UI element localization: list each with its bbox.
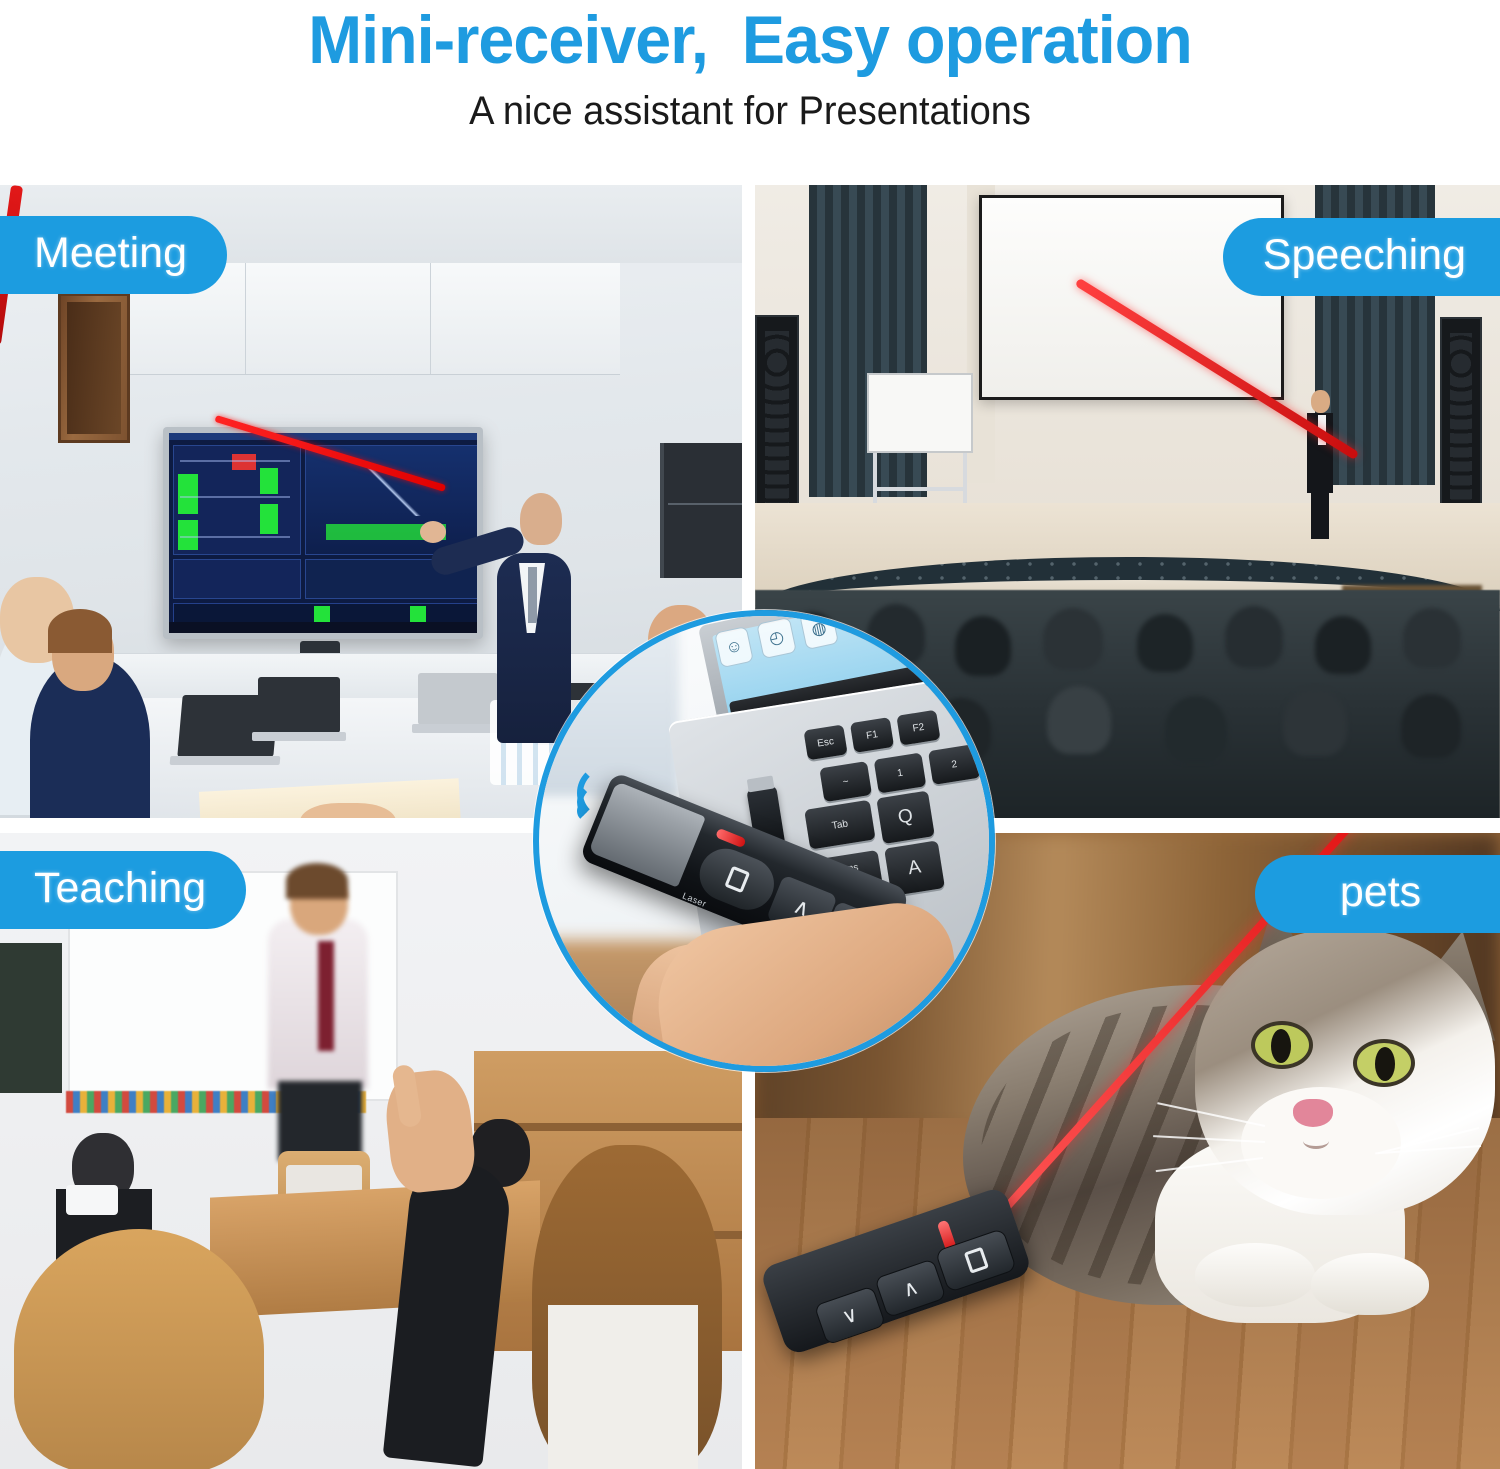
speaker-head [1311, 390, 1330, 413]
screen-quote-table [173, 445, 301, 555]
key-q[interactable]: Q [876, 791, 935, 845]
whiteboard [867, 373, 973, 453]
laptop [258, 677, 340, 733]
audience-head [1225, 606, 1283, 668]
screen-green-cell [260, 504, 278, 534]
teacher-trousers [278, 1081, 362, 1161]
cat-mouth [1303, 1133, 1329, 1149]
student-collar [66, 1185, 118, 1215]
led-indicator [715, 828, 747, 849]
tower-speaker [755, 315, 799, 523]
cat-paw [1195, 1243, 1315, 1307]
screen-watchlist [173, 603, 477, 623]
screen-green-cell [314, 606, 330, 622]
safari-icon: ◍ [799, 610, 839, 650]
attendee-hair [48, 609, 112, 653]
audience-head [1403, 608, 1461, 668]
key-esc[interactable]: Esc [803, 724, 847, 760]
teacher-tie [318, 941, 334, 1051]
screen-taskbar [169, 622, 477, 633]
screen-order-panel [173, 559, 301, 599]
key-f1[interactable]: F1 [850, 717, 894, 753]
audience-head [1165, 696, 1227, 762]
hand-fingers [648, 896, 969, 1072]
chalkboard [0, 943, 62, 1093]
audience-head [1043, 608, 1103, 670]
panel-label-pets: pets [1255, 855, 1500, 933]
blank-screen-icon [963, 1247, 988, 1274]
launchpad-icon: ◴ [757, 617, 797, 659]
screen-green-cell [178, 474, 198, 514]
audience-head [1283, 688, 1347, 756]
audience-head [1047, 686, 1111, 754]
screen-titlebar [169, 433, 477, 440]
side-monitor [660, 443, 742, 578]
finder-icon: ☺ [714, 626, 754, 668]
audience-head [1137, 614, 1193, 672]
panel-label-teaching: Teaching [0, 851, 246, 929]
screen-row [180, 496, 290, 498]
header: Mini-receiver, Easy operation A nice ass… [0, 0, 1500, 170]
cat-pupil [1271, 1029, 1291, 1063]
laptop [418, 673, 498, 725]
product-infographic: Mini-receiver, Easy operation A nice ass… [0, 0, 1500, 1469]
product-detail-callout: ☺ ◴ ◍ Esc F1 F2 ~ 1 2 Tab Q CapsLock A ⇧… [533, 610, 995, 1072]
speaker-legs [1311, 477, 1329, 539]
screen-green-cell [410, 606, 426, 622]
presenter-hand [420, 521, 446, 543]
student-body [548, 1305, 698, 1469]
tower-speaker [1440, 317, 1482, 519]
screen-row [180, 536, 290, 538]
audience-head [1315, 616, 1371, 674]
cat-paw [1311, 1253, 1429, 1315]
screen-green-cell [260, 468, 278, 494]
page-title: Mini-receiver, Easy operation [38, 2, 1463, 78]
screen-red-cell [232, 454, 256, 470]
presenter-head [520, 493, 562, 545]
screen-chart-panel [305, 445, 477, 555]
student-hair [14, 1229, 264, 1469]
page-subtitle: A nice assistant for Presentations [38, 88, 1463, 134]
panel-label-speeching: Speeching [1223, 218, 1500, 296]
panel-label-meeting: Meeting [0, 216, 227, 294]
cat-pupil [1375, 1047, 1395, 1081]
screen-row [180, 460, 290, 462]
wood-cabinet [58, 293, 130, 443]
cat-nose [1293, 1099, 1333, 1127]
teacher-hair [286, 863, 348, 899]
presenter-tie [528, 567, 537, 623]
key-f2[interactable]: F2 [896, 710, 940, 746]
remote-label-laser: Laser [681, 891, 708, 910]
screen-green-cell [178, 520, 198, 550]
audience-head [1401, 694, 1461, 758]
blank-screen-icon [724, 865, 750, 893]
